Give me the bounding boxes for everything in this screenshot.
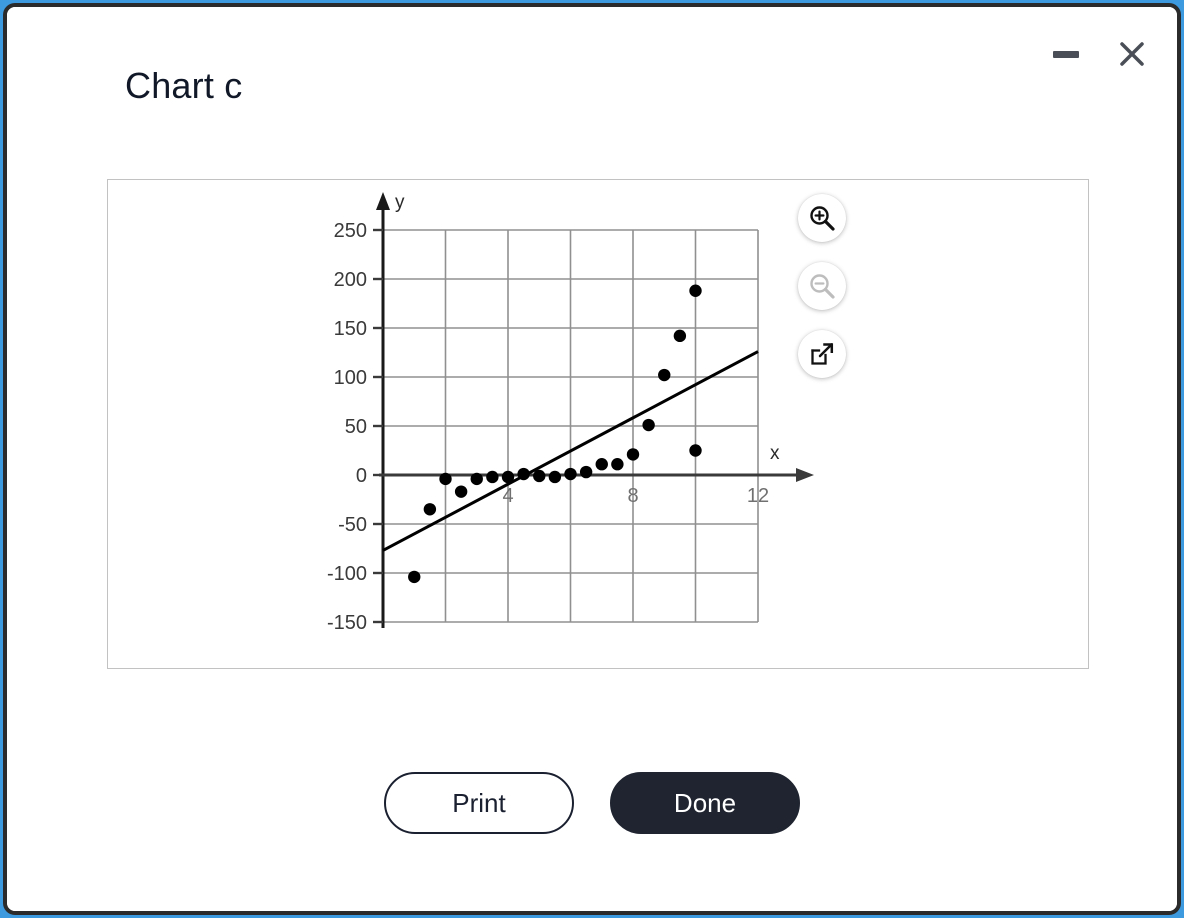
svg-text:-50: -50 <box>338 514 367 536</box>
svg-text:50: 50 <box>345 416 367 438</box>
minimize-icon <box>1053 51 1079 58</box>
minimize-button[interactable] <box>1045 33 1087 75</box>
scatter-plot: 250200150100500-50-100-1504812 yx <box>108 180 1090 668</box>
data-point <box>642 419 654 431</box>
data-point <box>689 444 701 456</box>
tick-labels: 250200150100500-50-100-1504812 <box>327 220 769 634</box>
page-title: Chart c <box>125 65 242 107</box>
chart-panel: 250200150100500-50-100-1504812 yx <box>107 179 1089 669</box>
data-point <box>658 369 670 381</box>
grid-lines <box>383 230 758 622</box>
data-point <box>439 473 451 485</box>
data-point <box>408 571 420 583</box>
svg-text:-150: -150 <box>327 612 367 634</box>
data-point <box>689 285 701 297</box>
print-button[interactable]: Print <box>384 772 574 834</box>
data-points <box>408 285 702 584</box>
data-point <box>517 468 529 480</box>
data-point <box>596 458 608 470</box>
close-icon <box>1117 36 1147 72</box>
svg-text:8: 8 <box>627 485 638 507</box>
zoom-out-button[interactable] <box>798 262 846 310</box>
done-button[interactable]: Done <box>610 772 800 834</box>
svg-text:250: 250 <box>334 220 367 242</box>
svg-text:150: 150 <box>334 318 367 340</box>
zoom-in-button[interactable] <box>798 194 846 242</box>
data-point <box>549 471 561 483</box>
data-point <box>486 471 498 483</box>
svg-text:-100: -100 <box>327 563 367 585</box>
zoom-out-icon <box>807 271 837 301</box>
chart-plot-area: 250200150100500-50-100-1504812 yx <box>108 180 1088 668</box>
data-point <box>471 473 483 485</box>
footer-buttons: Print Done <box>7 772 1177 834</box>
close-button[interactable] <box>1111 33 1153 75</box>
svg-text:0: 0 <box>356 465 367 487</box>
data-point <box>533 470 545 482</box>
data-point <box>627 448 639 460</box>
y-axis-label: y <box>395 192 405 213</box>
data-point <box>455 485 467 497</box>
open-external-icon <box>808 340 836 368</box>
app-frame: Chart c 250200150100500-50-100-1504812 y… <box>0 0 1184 918</box>
svg-text:4: 4 <box>502 485 513 507</box>
data-point <box>611 458 623 470</box>
axes <box>376 192 814 628</box>
svg-text:200: 200 <box>334 269 367 291</box>
svg-text:100: 100 <box>334 367 367 389</box>
open-external-button[interactable] <box>798 330 846 378</box>
zoom-in-icon <box>807 203 837 233</box>
svg-text:12: 12 <box>747 485 769 507</box>
data-point <box>580 466 592 478</box>
dialog-window: Chart c 250200150100500-50-100-1504812 y… <box>3 3 1181 915</box>
chart-controls <box>798 194 846 378</box>
window-controls <box>1045 33 1153 75</box>
data-point <box>564 468 576 480</box>
data-point <box>502 471 514 483</box>
x-axis-label: x <box>770 443 780 464</box>
dialog-window-inner: Chart c 250200150100500-50-100-1504812 y… <box>7 7 1177 911</box>
data-point <box>674 330 686 342</box>
data-point <box>424 503 436 515</box>
